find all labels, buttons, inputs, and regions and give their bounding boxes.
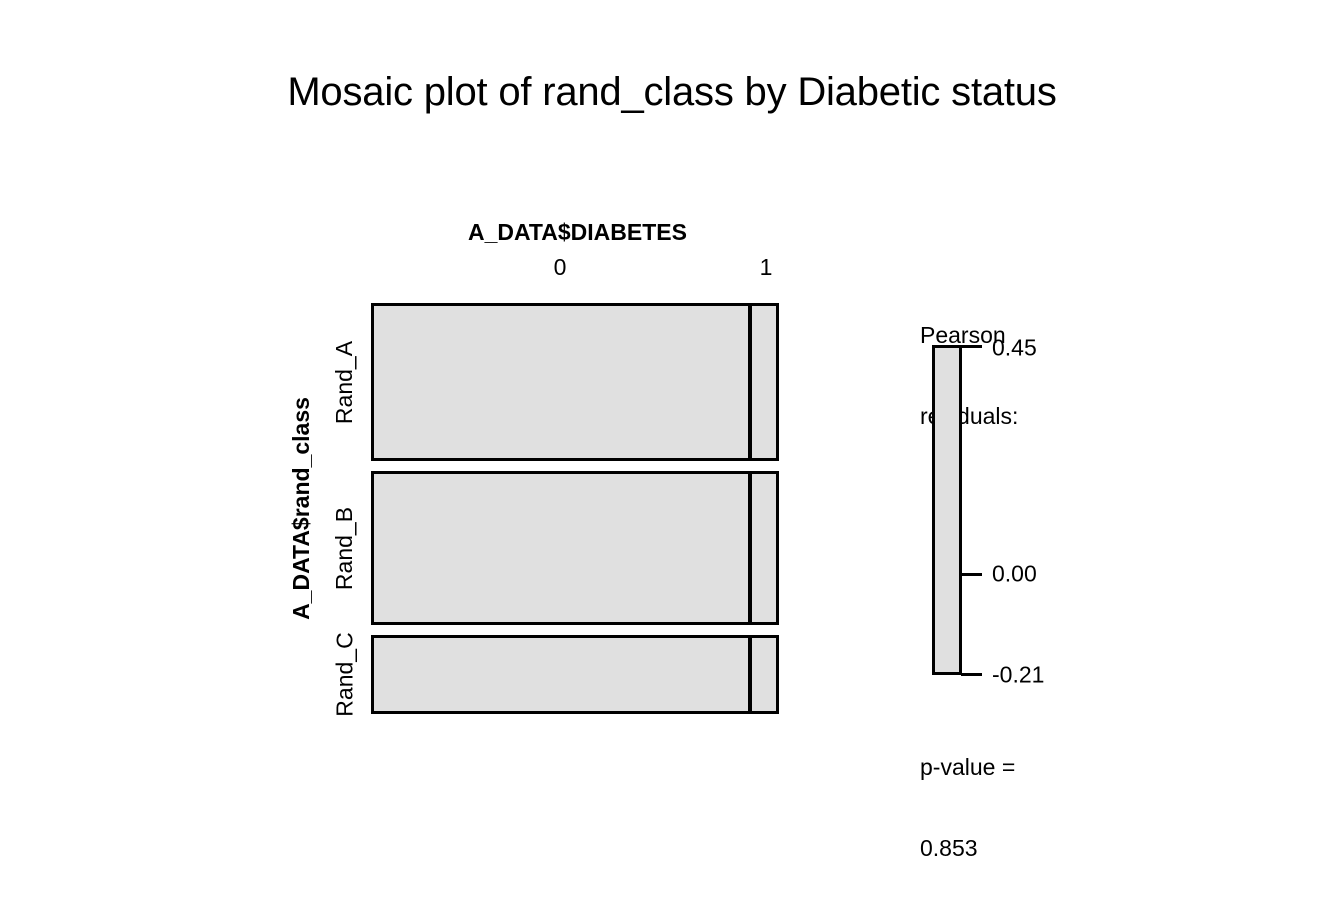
p-value-line-1: p-value = — [920, 754, 1015, 781]
x-tick-label-1: 1 — [711, 254, 821, 281]
mosaic-plot-canvas: Mosaic plot of rand_class by Diabetic st… — [0, 0, 1344, 830]
mosaic-tile-rand-a-0[interactable] — [371, 303, 751, 461]
legend-value-max: 0.45 — [992, 335, 1037, 362]
y-axis-title-text: A_DATA$rand_class — [288, 397, 315, 620]
legend-color-bar — [932, 345, 962, 675]
y-tick-label-rand-a-text: Rand_A — [332, 340, 359, 423]
x-tick-label-0: 0 — [505, 254, 615, 281]
mosaic-tile-rand-a-1[interactable] — [749, 303, 779, 461]
y-tick-label-rand-a: Rand_A — [332, 303, 358, 461]
p-value-annotation: p-value = 0.853 — [920, 700, 1015, 916]
legend-value-mid: 0.00 — [992, 561, 1037, 588]
y-tick-label-rand-b: Rand_B — [332, 471, 358, 625]
mosaic-tile-rand-c-1[interactable] — [749, 635, 779, 714]
mosaic-tile-rand-b-1[interactable] — [749, 471, 779, 625]
mosaic-tile-rand-b-0[interactable] — [371, 471, 751, 625]
y-axis-title: A_DATA$rand_class — [288, 302, 314, 714]
page-title: Mosaic plot of rand_class by Diabetic st… — [0, 70, 1344, 115]
mosaic-tile-rand-c-0[interactable] — [371, 635, 751, 714]
y-tick-label-rand-b-text: Rand_B — [332, 506, 359, 589]
legend-tick-max — [961, 345, 982, 348]
legend-tick-min — [961, 673, 982, 676]
y-tick-label-rand-c-text: Rand_C — [332, 632, 359, 716]
x-axis-title: A_DATA$DIABETES — [375, 219, 780, 246]
y-tick-label-rand-c: Rand_C — [332, 635, 358, 714]
p-value-line-2: 0.853 — [920, 835, 1015, 862]
legend-value-min: -0.21 — [992, 662, 1044, 689]
legend-tick-mid — [961, 573, 982, 576]
